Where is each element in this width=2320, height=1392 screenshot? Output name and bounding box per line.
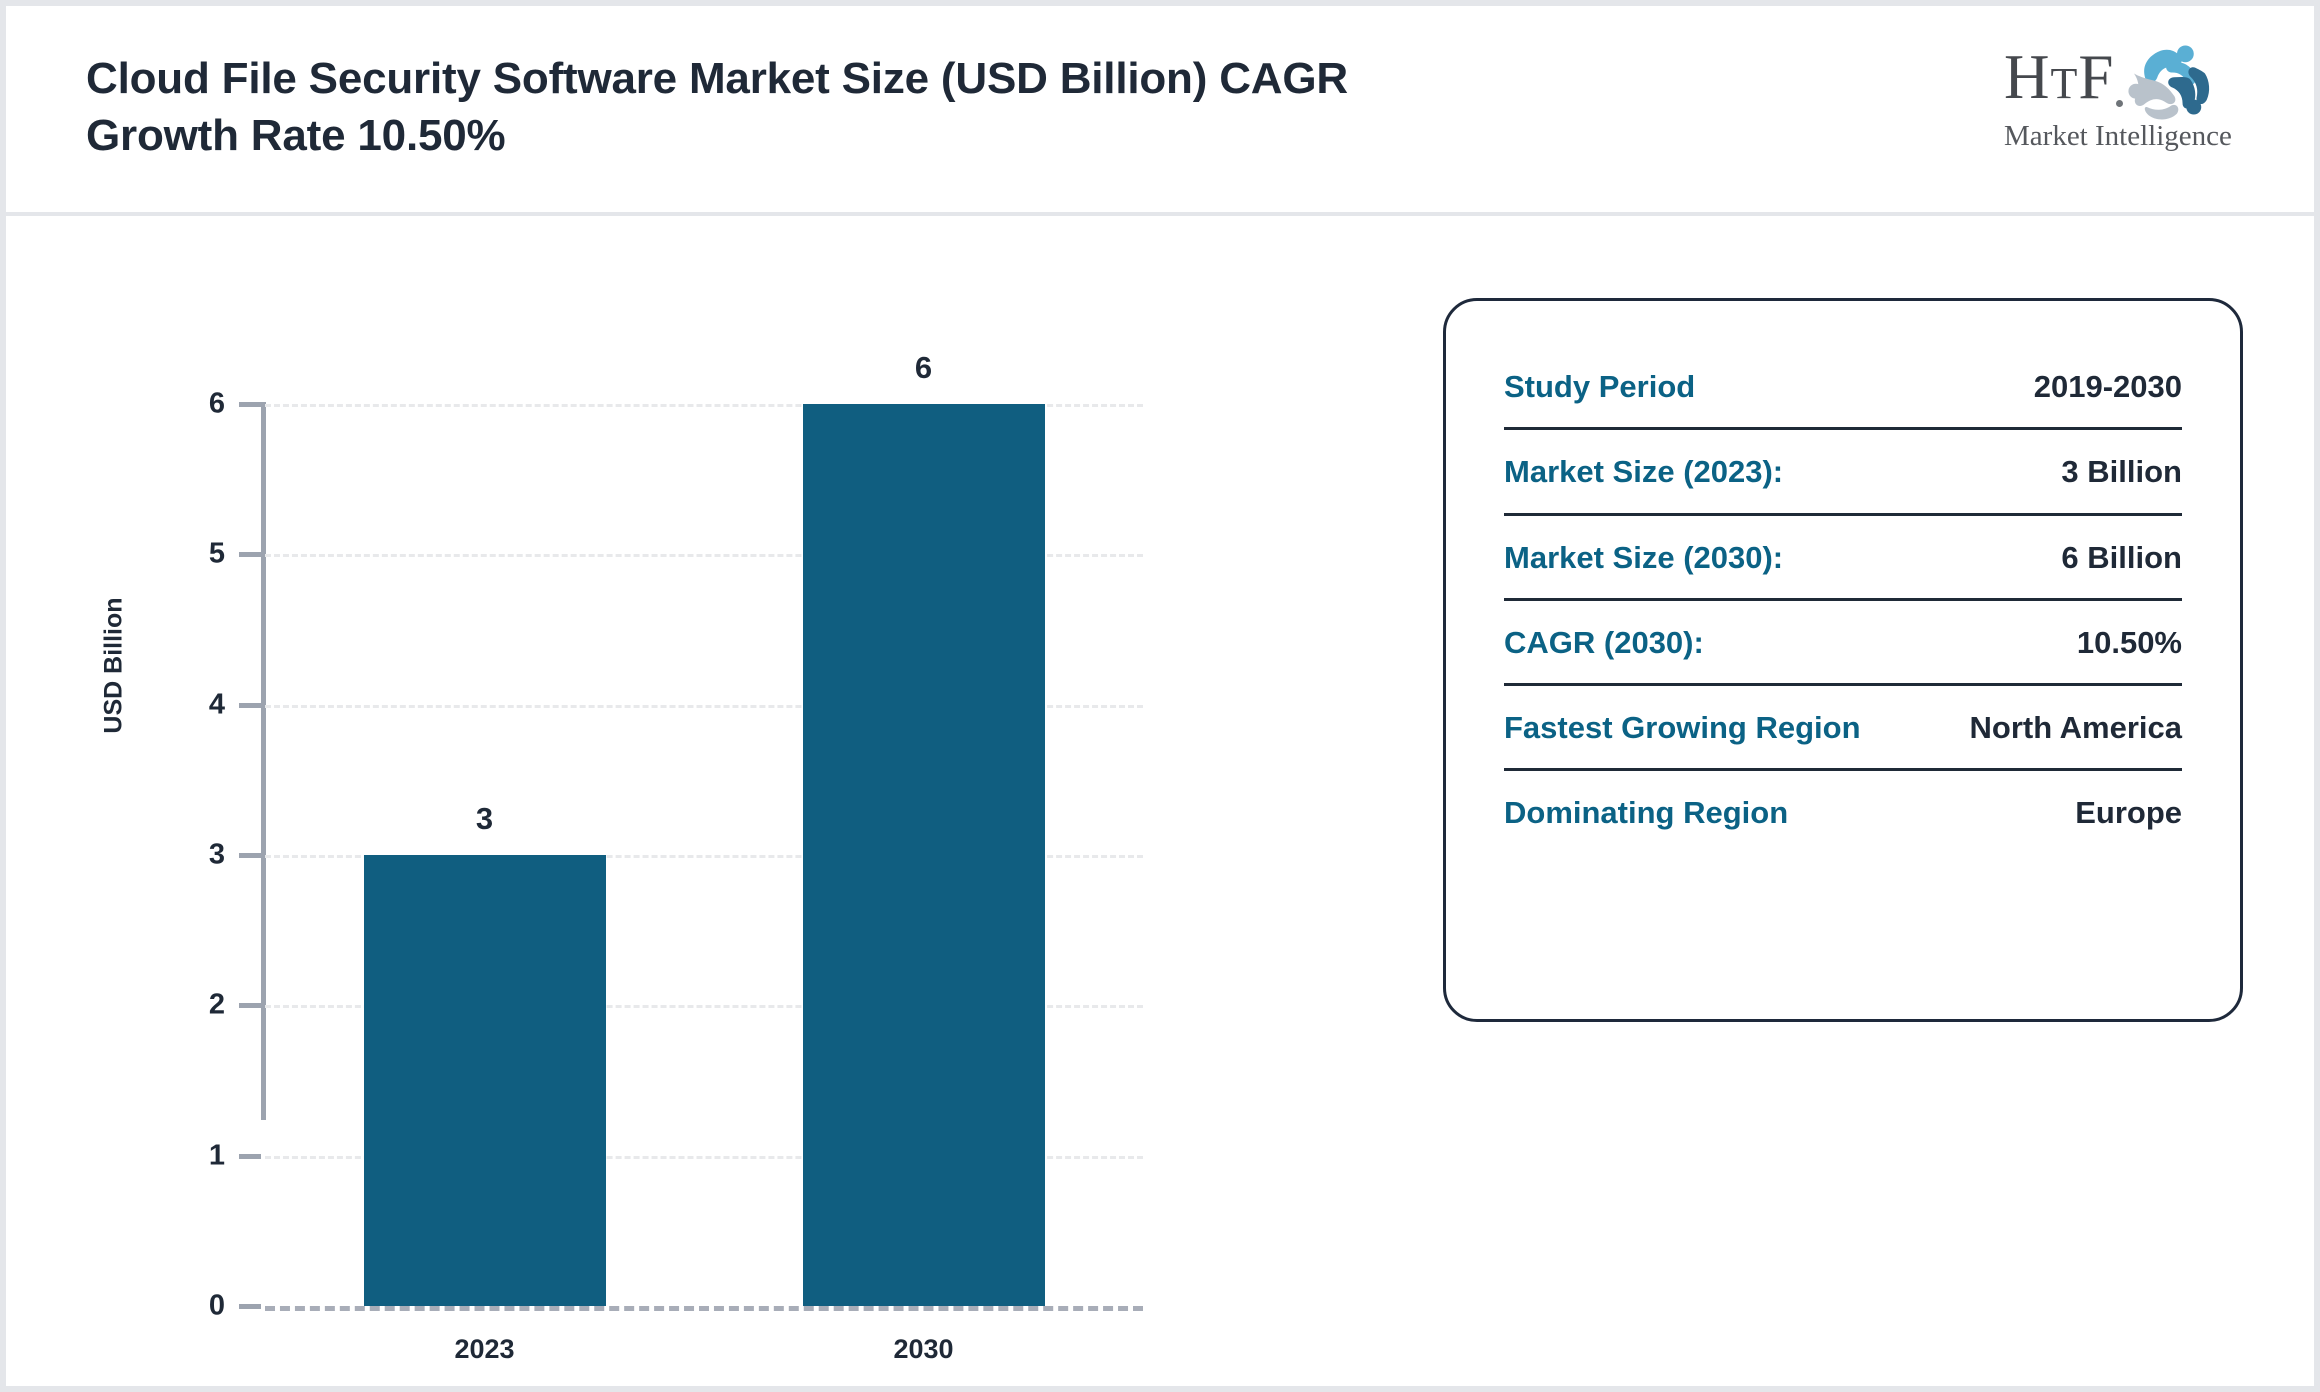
- y-axis-title: USD Billion: [100, 516, 129, 816]
- summary-row: Dominating RegionEurope: [1504, 771, 2182, 853]
- summary-row-value: 2019-2030: [2034, 367, 2182, 407]
- y-tick-label: 4: [165, 688, 225, 721]
- logo-tagline: Market Intelligence: [2004, 120, 2232, 153]
- summary-row: Market Size (2030):6 Billion: [1504, 516, 2182, 601]
- summary-row-value: 6 Billion: [2061, 538, 2182, 578]
- bar-chart: USD Billion 01234563202362030: [6, 216, 1336, 1392]
- logo-letter-t: T: [2051, 59, 2079, 108]
- bar-2023[interactable]: [364, 855, 606, 1306]
- three-people-circle-icon: [2122, 38, 2217, 122]
- y-tick-mark: [239, 703, 261, 708]
- page-title: Cloud File Security Software Market Size…: [86, 50, 1406, 164]
- summary-row-label: Market Size (2030):: [1504, 538, 1783, 578]
- market-summary-rows: Study Period2019-2030Market Size (2023):…: [1504, 345, 2182, 854]
- summary-row: Fastest Growing RegionNorth America: [1504, 686, 2182, 771]
- bar-value-label-2023: 3: [364, 801, 606, 837]
- y-tick-label: 5: [165, 538, 225, 571]
- summary-row-value: 3 Billion: [2061, 452, 2182, 492]
- y-tick-label: 0: [165, 1290, 225, 1323]
- summary-row-label: Market Size (2023):: [1504, 452, 1783, 492]
- summary-row-value: 10.50%: [2077, 623, 2182, 663]
- summary-row-label: Dominating Region: [1504, 793, 1788, 833]
- logo-letter-h: H: [2004, 42, 2051, 112]
- market-summary-card: Study Period2019-2030Market Size (2023):…: [1443, 298, 2243, 1022]
- htf-logo: HTF: [2004, 44, 2236, 156]
- y-tick-mark: [239, 853, 261, 858]
- logo-mark: HTF: [2004, 44, 2236, 122]
- chart-page: Cloud File Security Software Market Size…: [0, 0, 2320, 1392]
- summary-row-label: CAGR (2030):: [1504, 623, 1704, 663]
- y-tick-mark: [239, 1154, 261, 1159]
- summary-row-label: Study Period: [1504, 367, 1695, 407]
- plot-area: 01234563202362030: [265, 404, 1143, 1306]
- page-header: Cloud File Security Software Market Size…: [6, 6, 2314, 216]
- summary-row-value: Europe: [2075, 793, 2182, 833]
- logo-letter-f: F: [2078, 42, 2114, 112]
- logo-wordmark: HTF: [2004, 46, 2114, 109]
- axis-baseline: [265, 1306, 1143, 1311]
- y-tick-mark: [239, 1304, 261, 1309]
- summary-row: Study Period2019-2030: [1504, 345, 2182, 430]
- summary-row: Market Size (2023):3 Billion: [1504, 430, 2182, 515]
- y-tick-mark: [239, 1003, 261, 1008]
- summary-row-label: Fastest Growing Region: [1504, 708, 1861, 748]
- y-tick-mark: [239, 402, 261, 407]
- y-tick-label: 3: [165, 839, 225, 872]
- summary-row: CAGR (2030):10.50%: [1504, 601, 2182, 686]
- bar-2030[interactable]: [803, 404, 1045, 1306]
- y-tick-label: 1: [165, 1139, 225, 1172]
- x-tick-label-2030: 2030: [804, 1334, 1044, 1365]
- bar-value-label-2030: 6: [803, 350, 1045, 386]
- y-tick-label: 2: [165, 989, 225, 1022]
- summary-row-value: North America: [1970, 708, 2182, 748]
- x-tick-label-2023: 2023: [365, 1334, 605, 1365]
- y-tick-mark: [239, 552, 261, 557]
- y-tick-label: 6: [165, 388, 225, 421]
